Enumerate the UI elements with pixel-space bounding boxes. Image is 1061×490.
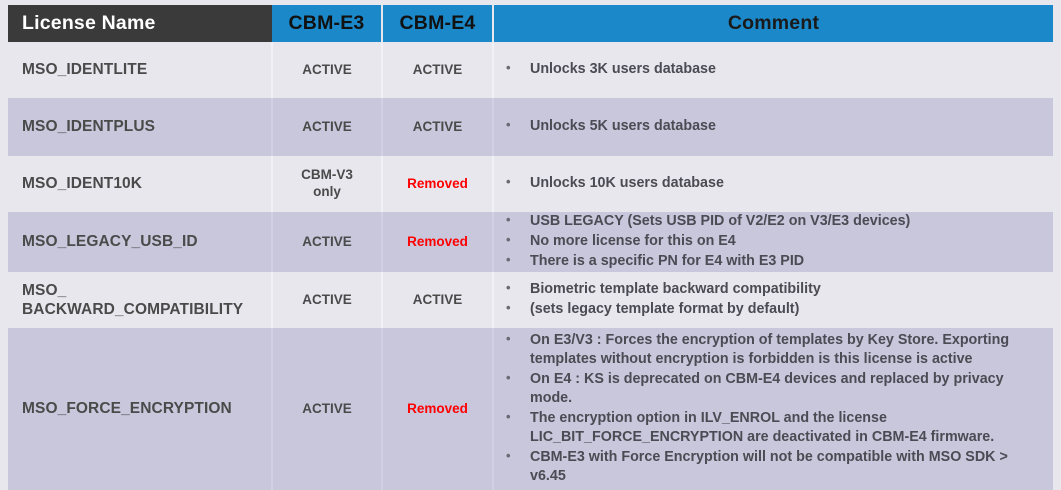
list-item: CBM-E3 with Force Encryption will not be… [494, 448, 1043, 486]
cell-cbm-e3-status: CBM-V3 only [272, 156, 382, 212]
table-row: MSO_IDENT10K CBM-V3 only Removed Unlocks… [8, 156, 1053, 212]
cell-license-name: MSO_IDENTPLUS [8, 98, 272, 156]
cell-cbm-e3-status: ACTIVE [272, 212, 382, 272]
table-header-row: License Name CBM-E3 CBM-E4 Comment [8, 5, 1053, 42]
cell-cbm-e3-status: ACTIVE [272, 98, 382, 156]
table-row: MSO_ BACKWARD_COMPATIBILITY ACTIVE ACTIV… [8, 272, 1053, 328]
list-item: On E4 : KS is deprecated on CBM-E4 devic… [494, 370, 1043, 408]
cell-cbm-e3-status: ACTIVE [272, 272, 382, 328]
cell-license-name: MSO_FORCE_ENCRYPTION [8, 328, 272, 490]
cell-comment: Biometric template backward compatibilit… [493, 272, 1053, 328]
cell-cbm-e3-status: ACTIVE [272, 328, 382, 490]
table-row: MSO_IDENTPLUS ACTIVE ACTIVE Unlocks 5K u… [8, 98, 1053, 156]
comment-bullet-list: Biometric template backward compatibilit… [494, 280, 1053, 319]
table-header: License Name CBM-E3 CBM-E4 Comment [8, 5, 1053, 42]
cell-license-name: MSO_IDENTLITE [8, 42, 272, 98]
list-item: On E3/V3 : Forces the encryption of temp… [494, 331, 1043, 369]
list-item: The encryption option in ILV_ENROL and t… [494, 409, 1043, 447]
cell-cbm-e4-status: ACTIVE [382, 42, 493, 98]
table-body: MSO_IDENTLITE ACTIVE ACTIVE Unlocks 3K u… [8, 42, 1053, 490]
cell-cbm-e4-status: Removed [382, 212, 493, 272]
comment-bullet-list: Unlocks 5K users database [494, 117, 1053, 136]
column-header-license-name: License Name [8, 5, 272, 42]
column-header-comment: Comment [493, 5, 1053, 42]
column-header-cbm-e3: CBM-E3 [272, 5, 382, 42]
cbm-e3-status-line1: CBM-V3 [301, 167, 353, 182]
cell-license-name: MSO_LEGACY_USB_ID [8, 212, 272, 272]
license-name-line2: BACKWARD_COMPATIBILITY [22, 301, 243, 318]
cell-license-name: MSO_ BACKWARD_COMPATIBILITY [8, 272, 272, 328]
list-item: Biometric template backward compatibilit… [494, 280, 1043, 299]
list-item: No more license for this on E4 [494, 232, 1043, 251]
cbm-e3-status-line2: only [313, 184, 341, 199]
comment-bullet-list: On E3/V3 : Forces the encryption of temp… [494, 331, 1053, 486]
cell-comment: On E3/V3 : Forces the encryption of temp… [493, 328, 1053, 490]
cell-cbm-e3-status: ACTIVE [272, 42, 382, 98]
cell-comment: Unlocks 10K users database [493, 156, 1053, 212]
license-table: License Name CBM-E3 CBM-E4 Comment MSO_I… [8, 5, 1053, 490]
cell-comment: USB LEGACY (Sets USB PID of V2/E2 on V3/… [493, 212, 1053, 272]
list-item: Unlocks 3K users database [494, 60, 1043, 79]
comment-bullet-list: USB LEGACY (Sets USB PID of V2/E2 on V3/… [494, 212, 1053, 271]
cell-comment: Unlocks 3K users database [493, 42, 1053, 98]
comment-bullet-list: Unlocks 3K users database [494, 60, 1053, 79]
cell-cbm-e4-status: Removed [382, 328, 493, 490]
cell-cbm-e4-status: ACTIVE [382, 98, 493, 156]
list-item: Unlocks 10K users database [494, 174, 1043, 193]
comment-bullet-list: Unlocks 10K users database [494, 174, 1053, 193]
list-item: USB LEGACY (Sets USB PID of V2/E2 on V3/… [494, 212, 1043, 231]
license-table-container: License Name CBM-E3 CBM-E4 Comment MSO_I… [8, 5, 1053, 476]
cell-cbm-e4-status: Removed [382, 156, 493, 212]
table-row: MSO_LEGACY_USB_ID ACTIVE Removed USB LEG… [8, 212, 1053, 272]
cell-cbm-e4-status: ACTIVE [382, 272, 493, 328]
list-item: (sets legacy template format by default) [494, 300, 1043, 319]
cell-comment: Unlocks 5K users database [493, 98, 1053, 156]
cell-license-name: MSO_IDENT10K [8, 156, 272, 212]
list-item: Unlocks 5K users database [494, 117, 1043, 136]
column-header-cbm-e4: CBM-E4 [382, 5, 493, 42]
license-name-line1: MSO_ [22, 282, 66, 299]
list-item: There is a specific PN for E4 with E3 PI… [494, 252, 1043, 271]
table-row: MSO_FORCE_ENCRYPTION ACTIVE Removed On E… [8, 328, 1053, 490]
table-row: MSO_IDENTLITE ACTIVE ACTIVE Unlocks 3K u… [8, 42, 1053, 98]
